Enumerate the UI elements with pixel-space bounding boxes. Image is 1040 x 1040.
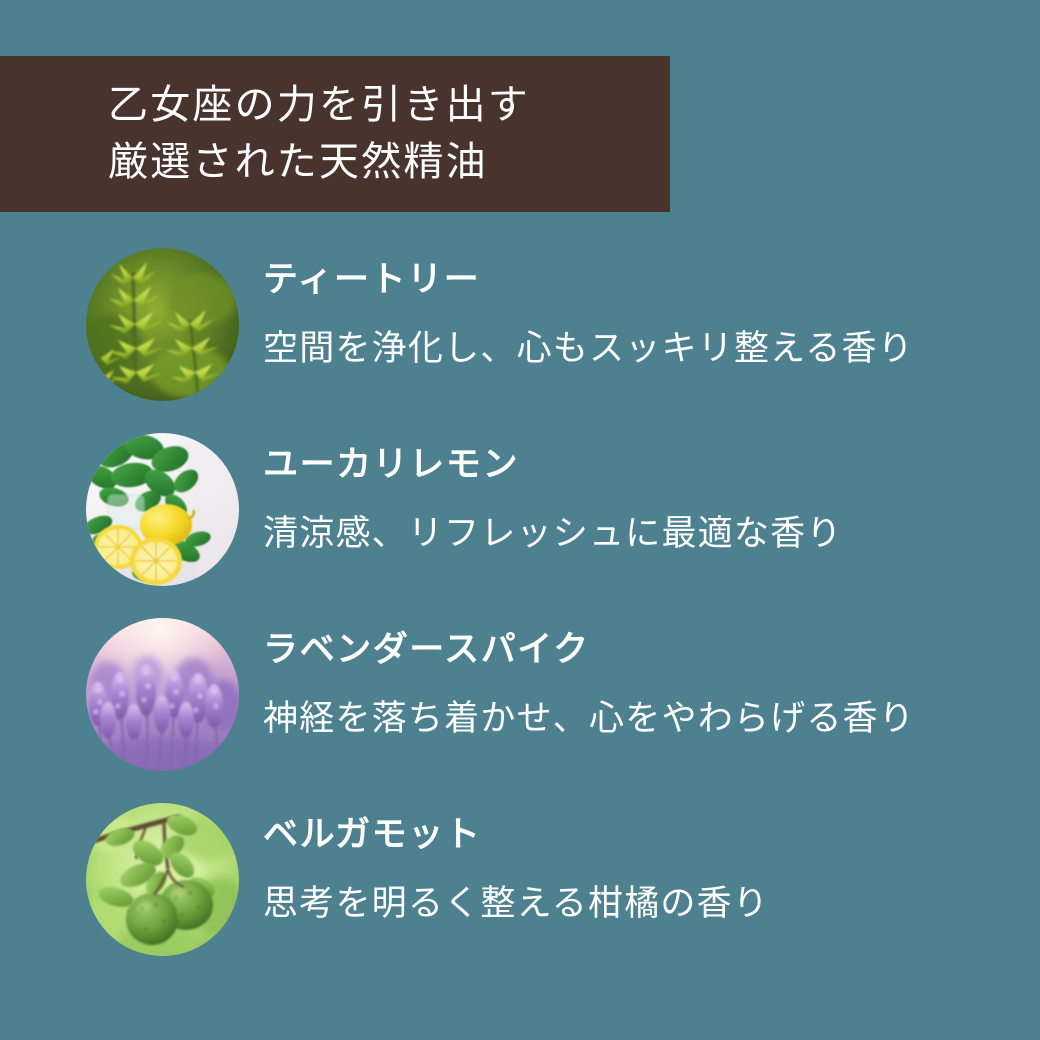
oil-description: 清涼感、リフレッシュに最適な香り [263,513,843,555]
oil-description: 思考を明るく整える柑橘の香り [263,883,769,925]
bergamot-fruit-photo [86,803,239,956]
tea-tree-foliage-photo [86,248,239,401]
essential-oil-list: ティートリー 空間を浄化し、心もスッキリ整える香り [0,248,1040,979]
oil-thumbnail-wrapper [86,248,239,401]
oil-text-block: ユーカリレモン 清涼感、リフレッシュに最適な香り [263,433,843,555]
oil-text-block: ベルガモット 思考を明るく整える柑橘の香り [263,803,769,925]
oil-description: 空間を浄化し、心もスッキリ整える香り [263,328,914,370]
list-item: ベルガモット 思考を明るく整える柑橘の香り [0,803,1040,979]
header-banner: 乙女座の力を引き出す 厳選された天然精油 [0,56,670,212]
list-item: ユーカリレモン 清涼感、リフレッシュに最適な香り [0,433,1040,618]
oil-name: ラベンダースパイク [263,630,915,670]
oil-name: ベルガモット [263,815,769,855]
lemon-and-herbs-photo [86,433,239,586]
oil-thumbnail-wrapper [86,803,239,956]
oil-description: 神経を落ち着かせ、心をやわらげる香り [263,698,915,740]
header-title-line-2: 厳選された天然精油 [108,134,670,191]
oil-thumbnail-wrapper [86,433,239,586]
oil-text-block: ティートリー 空間を浄化し、心もスッキリ整える香り [263,248,914,370]
list-item: ティートリー 空間を浄化し、心もスッキリ整える香り [0,248,1040,433]
list-item: ラベンダースパイク 神経を落ち着かせ、心をやわらげる香り [0,618,1040,803]
header-title-line-1: 乙女座の力を引き出す [108,77,670,134]
oil-text-block: ラベンダースパイク 神経を落ち着かせ、心をやわらげる香り [263,618,915,740]
oil-name: ユーカリレモン [263,445,843,485]
oil-thumbnail-wrapper [86,618,239,771]
poster-canvas: 乙女座の力を引き出す 厳選された天然精油 [0,0,1040,1040]
lavender-field-photo [86,618,239,771]
oil-name: ティートリー [263,260,914,300]
